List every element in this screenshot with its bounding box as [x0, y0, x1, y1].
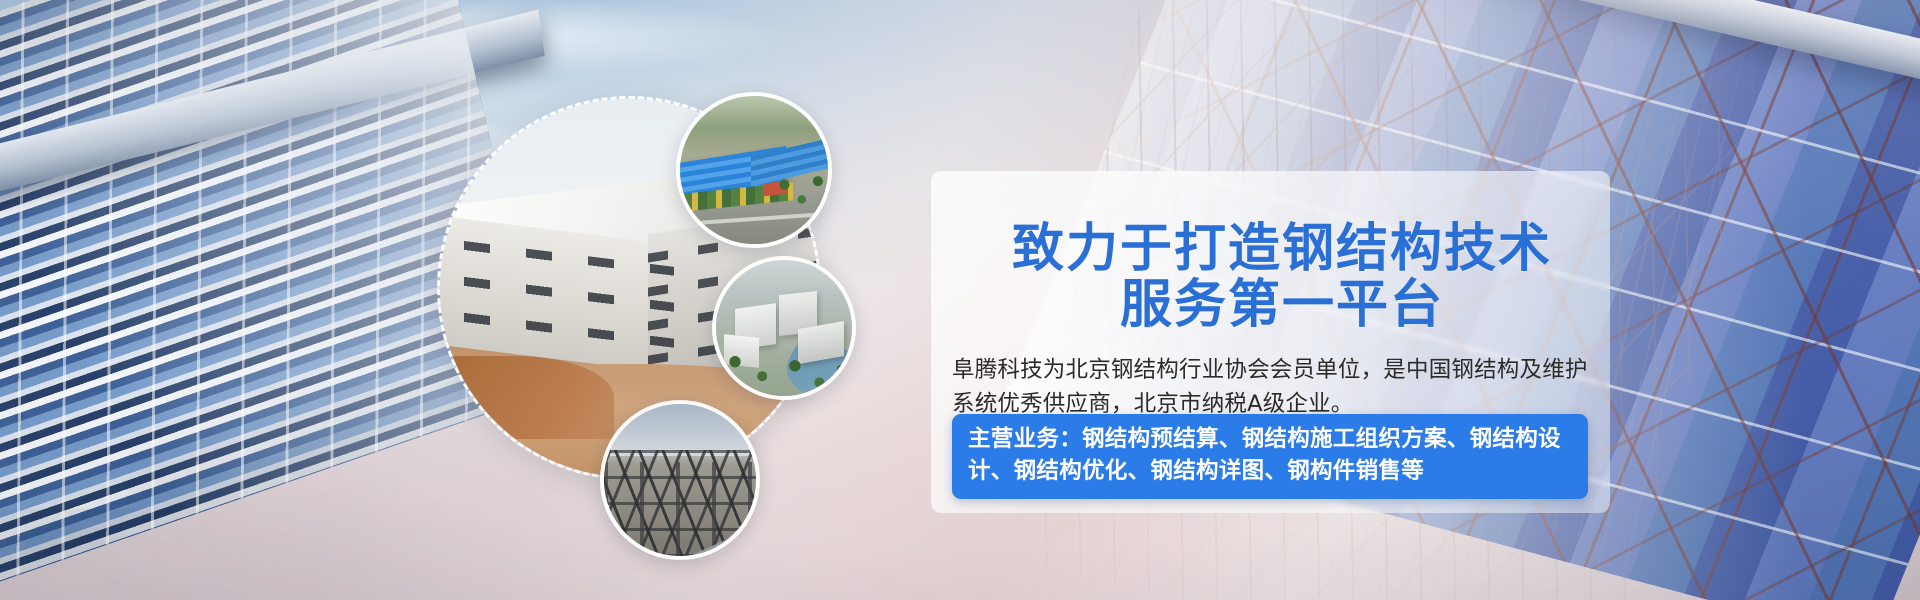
circle-photo-steel-space-frame — [600, 400, 760, 560]
office-campus-trees — [716, 344, 852, 396]
banner-description: 阜腾科技为北京钢结构行业协会会员单位，是中国钢结构及维护系统优秀供应商，北京市纳… — [952, 353, 1600, 421]
circle-photo-industrial-park — [676, 92, 832, 248]
factory-earth-mound — [437, 356, 614, 439]
banner-headline: 致力于打造钢结构技术 服务第一平台 — [952, 221, 1612, 333]
hero-banner: 致力于打造钢结构技术 服务第一平台 阜腾科技为北京钢结构行业协会会员单位，是中国… — [0, 0, 1920, 600]
main-business-callout: 主营业务：钢结构预结算、钢结构施工组织方案、钢结构设计、钢结构优化、钢结构详图、… — [952, 414, 1588, 499]
space-frame-sky — [604, 404, 756, 456]
circle-photo-office-campus — [712, 256, 856, 400]
